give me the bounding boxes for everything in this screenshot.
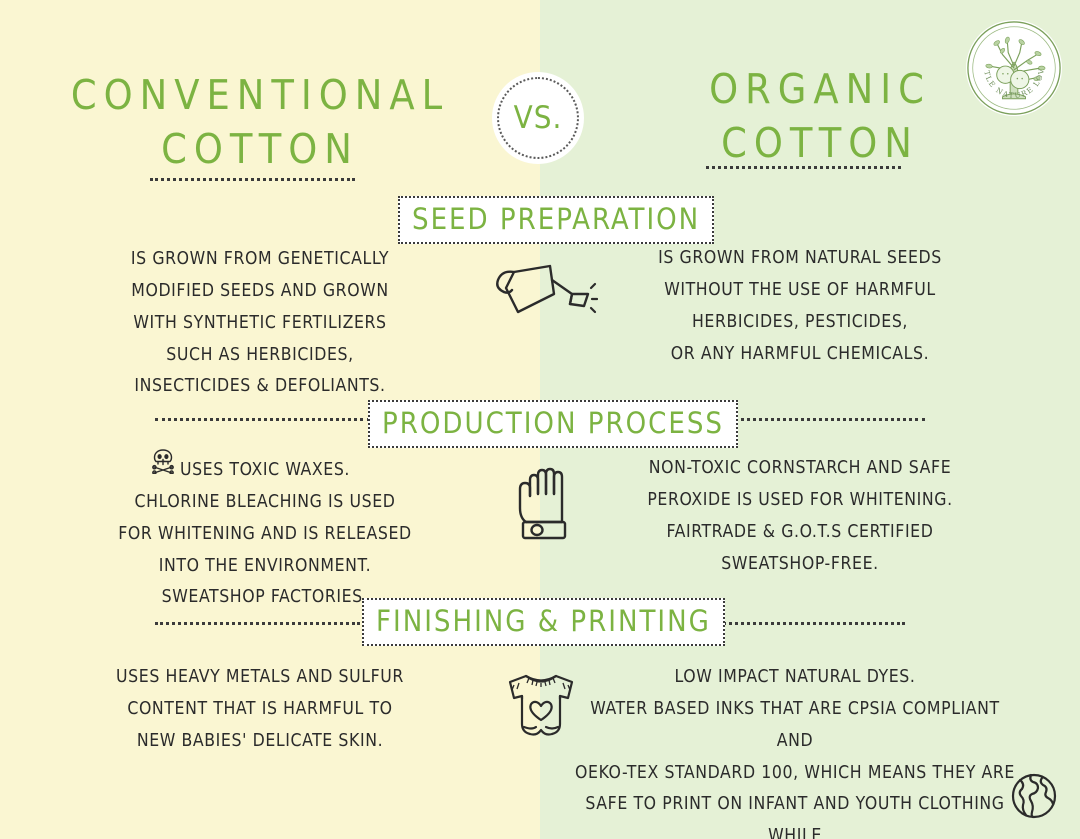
infographic-canvas: CONVENTIONAL COTTON ORGANIC COTTON VS. [0,0,1080,839]
text-line: CHLORINE BLEACHING IS USED [95,487,435,519]
text-line: OEKO-TEX STANDARD 100, WHICH MEANS THEY … [570,758,1020,790]
title-line-2: COTTON [640,116,1000,170]
title-line-1: CONVENTIONAL [40,68,480,122]
text-line: USES HEAVY METALS AND SULFUR [95,662,425,694]
glove-icon [508,462,584,548]
text-line: USES TOXIC WAXES. [95,455,435,487]
onesie-icon [498,666,584,748]
tree-logo-icon: LITTLE NATURE LOVER [966,20,1062,116]
section-rule-right [710,418,925,421]
title-line-1: ORGANIC [640,62,1000,116]
text-block-finishing-conventional: USES HEAVY METALS AND SULFUR CONTENT THA… [95,662,425,758]
text-line: IS GROWN FROM GENETICALLY [90,244,430,276]
title-underline-right [706,166,901,169]
text-block-seed-organic: IS GROWN FROM NATURAL SEEDS WITHOUT THE … [640,243,960,370]
text-line: SUCH AS HERBICIDES, [90,340,430,372]
text-line: CONTENT THAT IS HARMFUL TO [95,694,425,726]
text-line: MODIFIED SEEDS AND GROWN [90,276,430,308]
text-line: WITHOUT THE USE OF HARMFUL [640,275,960,307]
text-block-production-conventional: USES TOXIC WAXES. CHLORINE BLEACHING IS … [95,455,435,614]
text-block-production-organic: NON-TOXIC CORNSTARCH AND SAFE PEROXIDE I… [630,453,970,580]
title-underline-left [150,178,355,181]
text-line: PEROXIDE IS USED FOR WHITENING. [630,485,970,517]
text-line: OR ANY HARMFUL CHEMICALS. [640,339,960,371]
text-line: SWEATSHOP-FREE. [630,549,970,581]
text-line: FOR WHITENING AND IS RELEASED [95,519,435,551]
text-line: NEW BABIES' DELICATE SKIN. [95,726,425,758]
text-line: LOW IMPACT NATURAL DYES. [570,662,1020,694]
text-line: IS GROWN FROM NATURAL SEEDS [640,243,960,275]
text-line: INTO THE ENVIRONMENT. [95,551,435,583]
watering-can-icon [492,250,598,330]
versus-label: VS. [514,100,563,136]
brand-logo: LITTLE NATURE LOVER [966,20,1062,116]
section-header-production-process: PRODUCTION PROCESS [368,400,738,448]
text-line: WATER BASED INKS THAT ARE CPSIA COMPLIAN… [570,694,1020,758]
text-block-seed-conventional: IS GROWN FROM GENETICALLY MODIFIED SEEDS… [90,244,430,403]
text-line: WITH SYNTHETIC FERTILIZERS [90,308,430,340]
section-header-finishing-printing: FINISHING & PRINTING [362,598,725,646]
column-title-organic: ORGANIC COTTON [640,62,1000,170]
text-line: NON-TOXIC CORNSTARCH AND SAFE [630,453,970,485]
text-line: HERBICIDES, PESTICIDES, [640,307,960,339]
text-line: FAIRTRADE & G.O.T.S CERTIFIED [630,517,970,549]
text-line: SAFE TO PRINT ON INFANT AND YOUTH CLOTHI… [570,789,1020,839]
section-rule-right [700,622,905,625]
column-title-conventional: CONVENTIONAL COTTON [40,68,480,176]
versus-badge: VS. [492,72,584,164]
section-rule-left [155,622,360,625]
text-line: INSECTICIDES & DEFOLIANTS. [90,371,430,403]
section-rule-left [155,418,370,421]
section-header-seed-preparation: SEED PREPARATION [398,196,714,244]
title-line-2: COTTON [40,122,480,176]
text-block-finishing-organic: LOW IMPACT NATURAL DYES. WATER BASED INK… [570,662,1020,839]
globe-icon [1008,770,1060,822]
